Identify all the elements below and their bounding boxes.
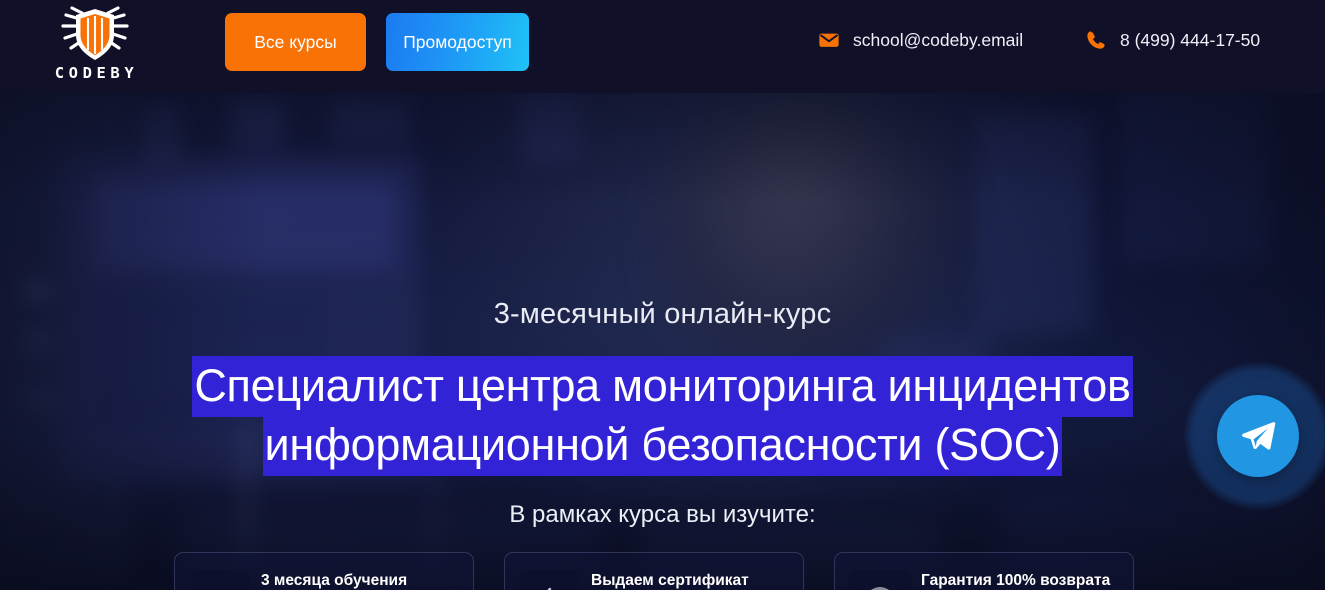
feature-icon-wrap	[189, 570, 251, 590]
feature-text: Гарантия 100% возврата средств в первые …	[921, 571, 1119, 590]
logo-wordmark: CODEBY	[55, 64, 139, 82]
feature-card-refund: $ Гарантия 100% возврата средств в первы…	[834, 552, 1134, 590]
all-courses-button[interactable]: Все курсы	[225, 13, 366, 71]
hero-title-line-1: Специалист центра мониторинга инцидентов	[192, 356, 1132, 417]
envelope-icon	[818, 29, 840, 51]
feature-title: 3 месяца обучения	[261, 571, 459, 590]
feature-title: Выдаем сертификат	[591, 571, 789, 590]
hero-eyebrow: 3-месячный онлайн-курс	[0, 298, 1325, 331]
feature-text: Выдаем сертификат после успешной сдачи э…	[591, 571, 789, 590]
header-phone[interactable]: 8 (499) 444-17-50	[1085, 29, 1260, 51]
hero-subtitle: В рамках курса вы изучите:	[0, 501, 1325, 529]
certificate-scroll-icon	[530, 581, 570, 590]
graduation-cap-icon	[200, 581, 240, 590]
feature-text: 3 месяца обучения с видеоуроками и задан…	[261, 571, 459, 590]
money-with-wings-icon: $	[860, 581, 900, 590]
header-phone-text: 8 (499) 444-17-50	[1120, 30, 1260, 51]
feature-icon-wrap	[519, 570, 581, 590]
telegram-floating-widget[interactable]	[1184, 362, 1325, 510]
hero-title-line-2: информационной безопасности (SOC)	[263, 415, 1063, 476]
landing-page: CODEBY Все курсы Промодоступ school@code…	[0, 0, 1325, 590]
telegram-paper-plane-icon	[1239, 417, 1277, 455]
site-header: CODEBY Все курсы Промодоступ school@code…	[0, 0, 1325, 93]
hero-title: Специалист центра мониторинга инцидентов…	[0, 356, 1325, 474]
feature-card-duration: 3 месяца обучения с видеоуроками и задан…	[174, 552, 474, 590]
feature-card-list: 3 месяца обучения с видеоуроками и задан…	[174, 552, 1134, 590]
spider-shield-icon	[58, 5, 132, 63]
promo-access-button[interactable]: Промодоступ	[386, 13, 529, 71]
header-email[interactable]: school@codeby.email	[818, 29, 1023, 51]
feature-card-certificate: Выдаем сертификат после успешной сдачи э…	[504, 552, 804, 590]
phone-icon	[1085, 29, 1107, 51]
telegram-button[interactable]	[1217, 395, 1299, 477]
feature-icon-wrap: $	[849, 570, 911, 590]
header-email-text: school@codeby.email	[853, 30, 1023, 51]
feature-title: Гарантия 100% возврата	[921, 571, 1119, 590]
site-logo[interactable]: CODEBY	[48, 5, 142, 87]
hero-content: 3-месячный онлайн-курс Специалист центра…	[0, 93, 1325, 590]
hero-section: 3-месячный онлайн-курс Специалист центра…	[0, 93, 1325, 590]
